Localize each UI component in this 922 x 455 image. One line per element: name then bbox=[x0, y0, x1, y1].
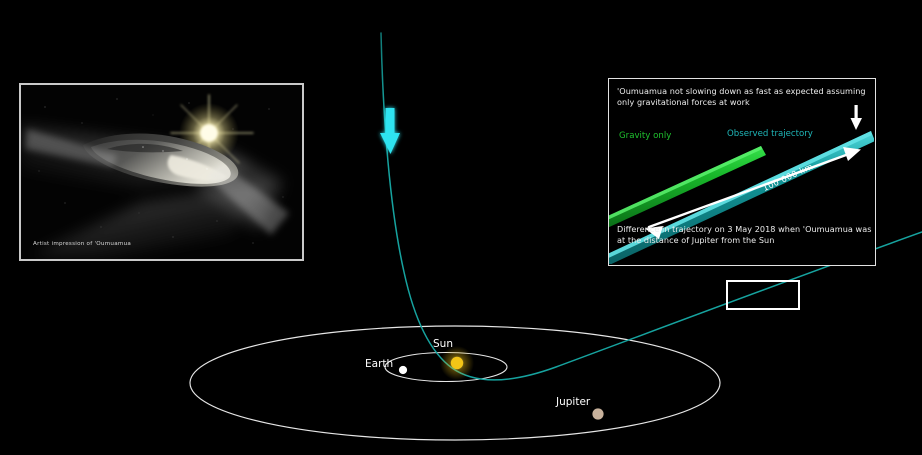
zoom-callout-rect bbox=[727, 281, 799, 309]
inset-footnote: Difference in trajectory on 3 May 2018 w… bbox=[617, 224, 873, 247]
inset-headline: 'Oumuamua not slowing down as fast as ex… bbox=[617, 86, 869, 109]
sun-body bbox=[451, 357, 463, 369]
sun-label: Sun bbox=[433, 338, 453, 350]
jupiter-body bbox=[592, 408, 603, 419]
earth-label: Earth bbox=[365, 358, 393, 370]
diagram-canvas: Artist impression of 'Oumuamua bbox=[0, 0, 922, 455]
trajectory-comparison-inset: 'Oumuamua not slowing down as fast as ex… bbox=[608, 78, 876, 266]
gravity-only-label: Gravity only bbox=[619, 131, 671, 141]
sun-core bbox=[201, 125, 218, 142]
artist-impression-panel: Artist impression of 'Oumuamua bbox=[19, 83, 304, 261]
earth-body bbox=[399, 366, 407, 374]
gravity-only-band bbox=[609, 146, 766, 229]
observed-trajectory-label: Observed trajectory bbox=[727, 129, 813, 139]
jupiter-label: Jupiter bbox=[556, 396, 590, 408]
jupiter-orbit bbox=[190, 326, 720, 440]
direction-arrow-icon bbox=[380, 108, 400, 154]
artist-impression-image bbox=[21, 85, 302, 259]
artist-impression-caption: Artist impression of 'Oumuamua bbox=[33, 241, 131, 247]
